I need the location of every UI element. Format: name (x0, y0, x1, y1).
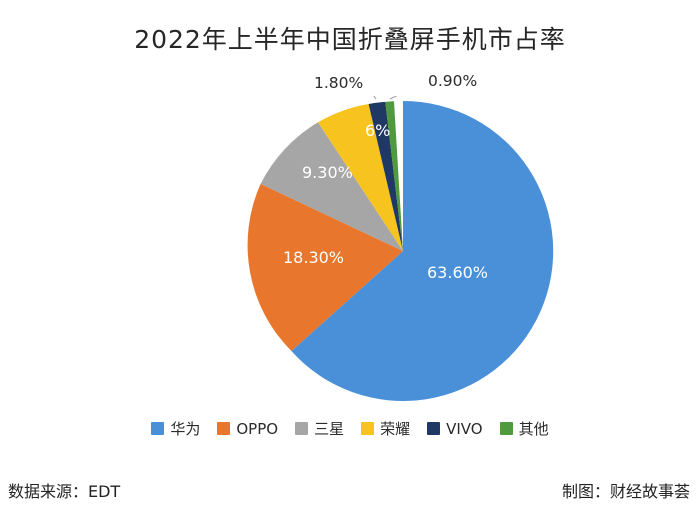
legend-item-samsung[interactable]: 三星 (295, 418, 344, 439)
slice-label-other: 0.90% (428, 72, 477, 90)
legend-swatch-icon (217, 422, 230, 435)
legend-swatch-icon (151, 422, 164, 435)
legend-item-oppo[interactable]: OPPO (217, 420, 278, 438)
legend-label: VIVO (446, 420, 483, 438)
pie-chart-figure: 2022年上半年中国折叠屏手机市占率 (0, 0, 700, 526)
legend-item-honor[interactable]: 荣耀 (361, 418, 410, 439)
slice-label-huawei: 63.60% (427, 263, 488, 282)
pie-plot-area: 63.60% 18.30% 9.30% 6% 1.80% 0.90% (238, 96, 568, 406)
slice-label-honor: 6% (365, 121, 390, 140)
legend-item-other[interactable]: 其他 (500, 418, 549, 439)
leader-line-vivo (366, 96, 376, 99)
legend-label: 三星 (314, 418, 344, 439)
leader-line-other (390, 96, 425, 99)
legend-label: 其他 (519, 418, 549, 439)
chart-legend: 华为 OPPO 三星 荣耀 VIVO 其他 (0, 418, 700, 439)
chart-footer: 数据来源：EDT 制图：财经故事荟 (0, 478, 700, 508)
legend-label: 华为 (170, 418, 200, 439)
legend-item-vivo[interactable]: VIVO (427, 420, 483, 438)
data-source-text: 数据来源：EDT (8, 478, 120, 502)
legend-item-huawei[interactable]: 华为 (151, 418, 200, 439)
legend-swatch-icon (427, 422, 440, 435)
chart-title: 2022年上半年中国折叠屏手机市占率 (0, 20, 700, 56)
legend-label: 荣耀 (380, 418, 410, 439)
slice-label-vivo: 1.80% (314, 74, 363, 92)
slice-label-samsung: 9.30% (302, 163, 353, 182)
legend-label: OPPO (236, 420, 278, 438)
legend-swatch-icon (361, 422, 374, 435)
legend-swatch-icon (295, 422, 308, 435)
leader-lines (366, 96, 425, 99)
chart-credit-text: 制图：财经故事荟 (562, 478, 690, 502)
legend-swatch-icon (500, 422, 513, 435)
slice-label-oppo: 18.30% (283, 248, 344, 267)
